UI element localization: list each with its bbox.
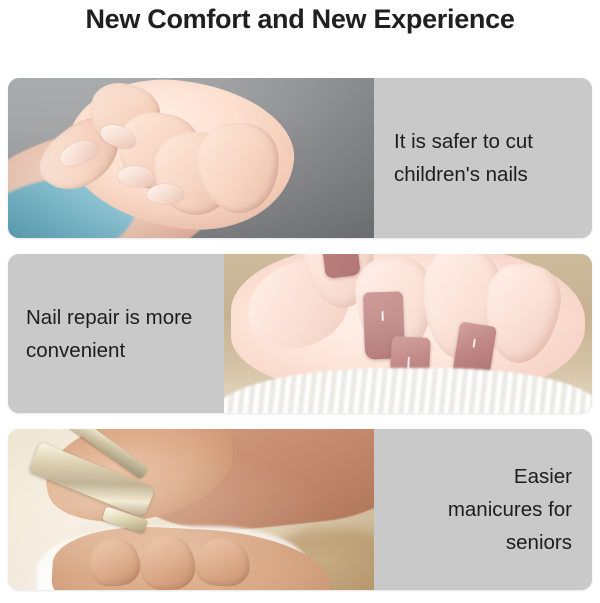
- feature-panel-1: It is safer to cut children's nails: [8, 78, 592, 238]
- panel-3-caption-line-1: Easier: [388, 460, 572, 493]
- panel-2-caption-line-1: Nail repair is more: [26, 301, 214, 334]
- panel-1-caption-line-1: It is safer to cut: [394, 125, 574, 158]
- panel-1-caption: It is safer to cut children's nails: [374, 78, 592, 238]
- panel-2-caption-line-2: convenient: [26, 334, 214, 367]
- panel-3-photo-nail-clipper: [8, 429, 374, 590]
- panel-3-caption: Easier manicures for seniors: [374, 429, 592, 590]
- feature-panel-3: Easier manicures for seniors: [8, 429, 592, 590]
- page-title: New Comfort and New Experience: [0, 2, 600, 36]
- panel-2-photo-manicured-nails: [224, 254, 592, 413]
- product-feature-page: New Comfort and New Experience It is saf…: [0, 0, 600, 603]
- panel-1-caption-line-2: children's nails: [394, 158, 574, 191]
- panel-2-caption: Nail repair is more convenient: [8, 254, 224, 413]
- panel-1-photo-baby-hand: [8, 78, 374, 238]
- feature-panel-2: Nail repair is more convenient: [8, 254, 592, 413]
- panel-3-caption-line-2: manicures for: [388, 493, 572, 526]
- panel-3-caption-line-3: seniors: [388, 526, 572, 559]
